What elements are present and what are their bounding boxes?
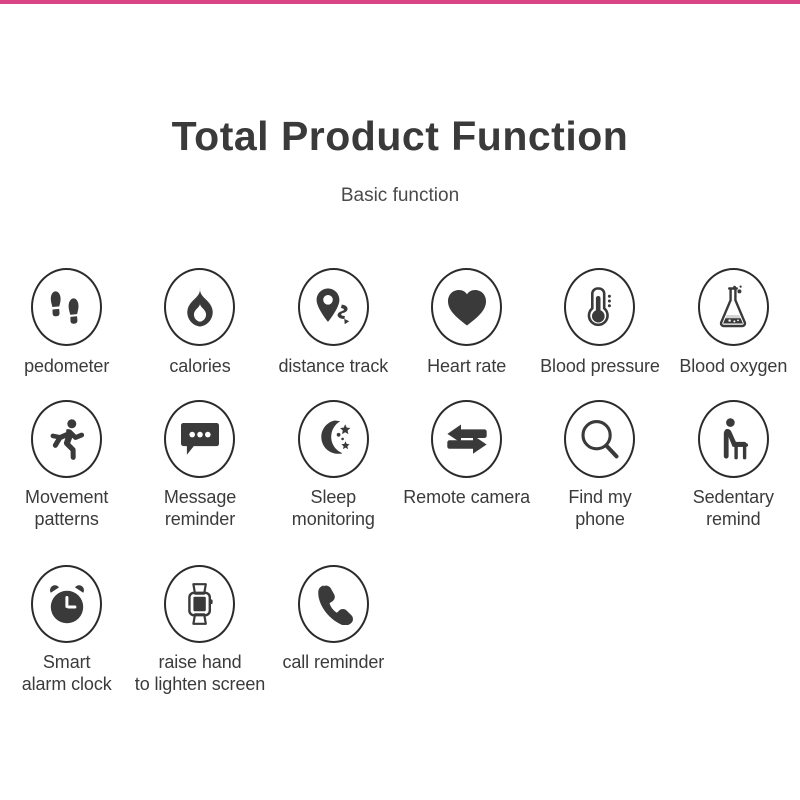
feature-badge [164,400,235,478]
moon-stars-icon [311,417,355,461]
flame-icon [183,286,217,328]
running-person-icon [46,417,88,461]
phone-handset-icon [313,583,353,625]
feature-row: Movement patterns Message reminder [0,400,800,565]
alarm-clock-icon [45,583,89,625]
feature-item-raise-hand-to-lighten-screen[interactable]: raise hand to lighten screen [133,565,266,696]
feature-label: Sedentary remind [693,487,774,531]
feature-label: Blood pressure [540,356,660,378]
feature-item-blood-oxygen[interactable]: Blood oxygen [667,268,800,378]
feature-badge [431,268,502,346]
feature-badge [698,400,769,478]
feature-label: calories [169,356,230,378]
feature-row: pedometer calories [0,268,800,400]
feature-label: Smart alarm clock [22,652,112,696]
feature-badge [431,400,502,478]
feature-badge [298,268,369,346]
feature-row: Smart alarm clock raise hand to ligh [0,565,800,730]
feature-item-heart-rate[interactable]: Heart rate [400,268,533,378]
feature-label: Remote camera [403,487,530,509]
feature-item-pedometer[interactable]: pedometer [0,268,133,378]
feature-label: Find my phone [568,487,631,531]
feature-label: Blood oxygen [679,356,787,378]
map-pin-route-icon [311,286,355,328]
feature-item-smart-alarm-clock[interactable]: Smart alarm clock [0,565,133,696]
feature-item-distance-track[interactable]: distance track [267,268,400,378]
feature-badge [564,268,635,346]
heart-icon [446,287,488,327]
speech-bubble-icon [179,420,221,458]
feature-badge [31,400,102,478]
thermometer-icon [583,285,617,329]
feature-badge [298,565,369,643]
magnifier-icon [579,418,621,460]
feature-item-movement-patterns[interactable]: Movement patterns [0,400,133,531]
product-function-poster: Total Product Function Basic function pe… [0,0,800,800]
feature-badge [31,268,102,346]
feature-item-calories[interactable]: calories [133,268,266,378]
feature-label: Message reminder [164,487,236,531]
feature-label: distance track [278,356,388,378]
flask-icon [715,284,751,330]
feature-badge [31,565,102,643]
feature-badge [298,400,369,478]
feature-label: Heart rate [427,356,506,378]
top-accent-bar [0,0,800,4]
feature-badge [164,565,235,643]
footprints-icon [47,286,87,328]
feature-badge [698,268,769,346]
page-subtitle: Basic function [0,186,800,207]
feature-item-blood-pressure[interactable]: Blood pressure [533,268,666,378]
page-title: Total Product Function [0,114,800,159]
feature-label: call reminder [282,652,384,674]
feature-item-find-my-phone[interactable]: Find my phone [533,400,666,531]
feature-item-sedentary-remind[interactable]: Sedentary remind [667,400,800,531]
feature-label: Movement patterns [25,487,108,531]
feature-label: pedometer [24,356,109,378]
feature-item-call-reminder[interactable]: call reminder [267,565,400,674]
feature-label: Sleep monitoring [292,487,375,531]
two-way-arrows-icon [445,421,489,457]
feature-grid: pedometer calories [0,268,800,730]
feature-badge [164,268,235,346]
feature-badge [564,400,635,478]
feature-item-sleep-monitoring[interactable]: Sleep monitoring [267,400,400,531]
feature-item-remote-camera[interactable]: Remote camera [400,400,533,509]
smartwatch-icon [183,581,217,627]
feature-item-message-reminder[interactable]: Message reminder [133,400,266,531]
seated-person-icon [713,417,753,461]
feature-label: raise hand to lighten screen [135,652,265,696]
